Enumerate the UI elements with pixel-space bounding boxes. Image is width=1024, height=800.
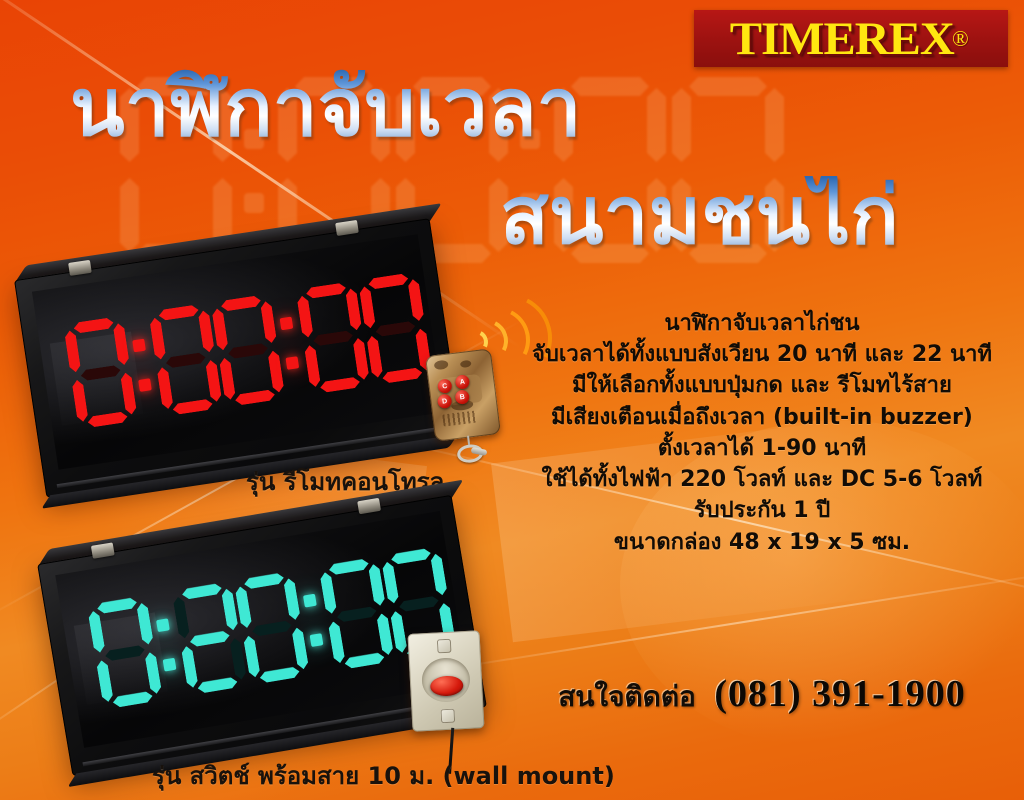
brand-logo-text: TIMEREX	[730, 12, 954, 66]
feature-description-list: นาฬิกาจับเวลาไก่ชน จับเวลาได้ทั้งแบบสังเ…	[500, 308, 1024, 558]
advertisement-poster: TIMEREX ® นาฬิกาจับเวลา สนามชนไก่	[0, 0, 1024, 800]
feature-line: ตั้งเวลาได้ 1-90 นาที	[500, 433, 1024, 464]
contact-label: สนใจติดต่อ	[558, 680, 696, 713]
feature-line: มีเสียงเตือนเมื่อถึงเวลา (built-in buzze…	[500, 402, 1024, 433]
screw-icon	[440, 709, 455, 724]
product-caption-wallmount: รุ่น สวิตช์ พร้อมสาย 10 ม. (wall mount)	[152, 756, 615, 795]
light-streak	[404, 565, 1024, 676]
led-digit	[296, 281, 371, 395]
feature-line: ขนาดกล่อง 48 x 19 x 5 ซม.	[500, 527, 1024, 558]
led-digit	[148, 303, 223, 417]
contact-phone-number[interactable]: (081) 391-1900	[714, 673, 965, 715]
brand-logo: TIMEREX ®	[694, 10, 1008, 67]
wall-mount-switch	[407, 630, 484, 732]
registered-trademark-icon: ®	[952, 26, 969, 52]
remote-control-keyfob: C A D B	[425, 348, 501, 441]
screw-icon	[437, 639, 452, 654]
led-digit	[210, 294, 285, 408]
keyring-icon	[453, 433, 491, 469]
feature-line: นาฬิกาจับเวลาไก่ชน	[500, 308, 1024, 339]
product-clock-remote	[14, 218, 462, 498]
feature-line: ใช้ได้ทั้งไฟฟ้า 220 โวลท์ และ DC 5-6 โวล…	[500, 464, 1024, 495]
led-digit	[358, 272, 433, 386]
feature-line: รับประกัน 1 ปี	[500, 495, 1024, 526]
feature-line: จับเวลาได้ทั้งแบบสังเวียน 20 นาที และ 22…	[500, 339, 1024, 370]
contact-block: สนใจติดต่อ (081) 391-1900	[500, 672, 1024, 719]
headline-line-1: นาฬิกาจับเวลา	[70, 68, 582, 148]
headline-line-2: สนามชนไก่	[500, 176, 899, 256]
feature-line: มีให้เลือกทั้งแบบปุ่มกด และ รีโมทไร้สาย	[500, 370, 1024, 401]
